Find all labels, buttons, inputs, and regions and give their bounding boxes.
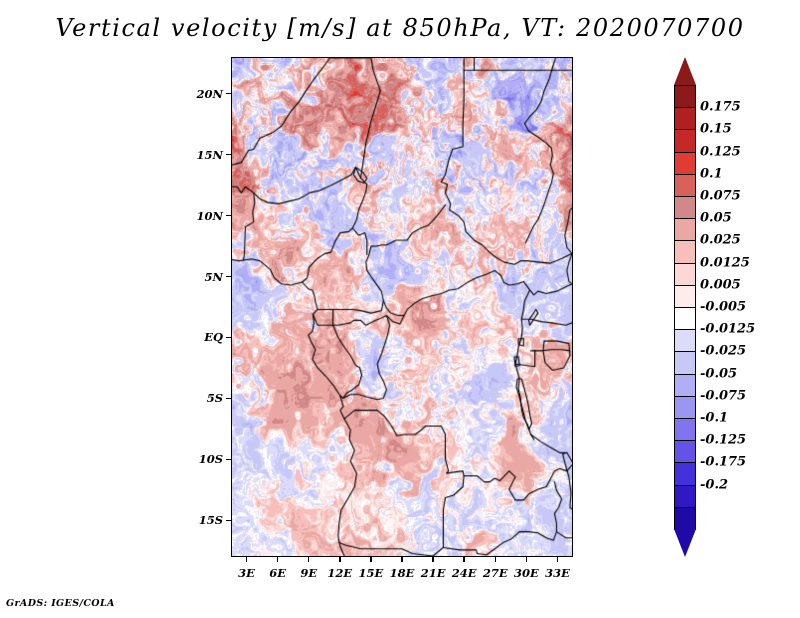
- colorbar-segment: [674, 129, 696, 153]
- longitude-tick-mark: [495, 557, 496, 562]
- longitude-tick-label: 27E: [483, 566, 508, 580]
- longitude-tick-label: 21E: [421, 566, 446, 580]
- longitude-tick-label: 30E: [514, 566, 539, 580]
- colorbar-tick-label: 0.075: [700, 189, 741, 204]
- colorbar-segment: [674, 196, 696, 220]
- latitude-tick-mark: [226, 337, 231, 338]
- page-title: Vertical velocity [m/s] at 850hPa, VT: 2…: [0, 14, 800, 42]
- colorbar-segment: [674, 462, 696, 486]
- colorbar-segment: [674, 396, 696, 420]
- longitude-tick-label: 3E: [238, 566, 255, 580]
- colorbar-tick-label: -0.005: [700, 300, 746, 315]
- longitude-tick-label: 12E: [327, 566, 352, 580]
- colorbar-tick-label: 0.0125: [700, 255, 750, 270]
- colorbar-bottom-arrow: [674, 529, 696, 557]
- longitude-tick-mark: [557, 557, 558, 562]
- colorbar-segment: [674, 374, 696, 398]
- colorbar-segment: [674, 152, 696, 176]
- longitude-tick-label: 18E: [390, 566, 415, 580]
- longitude-tick-mark: [277, 557, 278, 562]
- longitude-tick-mark: [308, 557, 309, 562]
- latitude-tick-mark: [226, 93, 231, 94]
- colorbar-tick-label: -0.2: [700, 477, 728, 492]
- colorbar-tick-label: 0.1: [700, 166, 723, 181]
- longitude-tick-mark: [370, 557, 371, 562]
- colorbar: [674, 57, 696, 557]
- latitude-tick-mark: [226, 154, 231, 155]
- colorbar-segment: [674, 107, 696, 131]
- latitude-tick-label: 15S: [185, 513, 223, 527]
- colorbar-tick-label: 0.125: [700, 144, 741, 159]
- latitude-tick-label: 5N: [185, 270, 223, 284]
- colorbar-tick-label: 0.05: [700, 211, 732, 226]
- longitude-tick-mark: [526, 557, 527, 562]
- colorbar-tick-label: 0.15: [700, 122, 732, 137]
- colorbar-tick-label: -0.075: [700, 388, 746, 403]
- colorbar-segment: [674, 440, 696, 464]
- colorbar-segment: [674, 507, 696, 531]
- colorbar-segment: [674, 285, 696, 309]
- longitude-tick-label: 24E: [452, 566, 477, 580]
- colorbar-segment: [674, 218, 696, 242]
- colorbar-segment: [674, 351, 696, 375]
- longitude-tick-mark: [401, 557, 402, 562]
- colorbar-tick-label: 0.025: [700, 233, 741, 248]
- grads-attribution: GrADS: IGES/COLA: [6, 598, 115, 609]
- longitude-tick-mark: [246, 557, 247, 562]
- colorbar-tick-label: -0.175: [700, 455, 746, 470]
- longitude-tick-mark: [432, 557, 433, 562]
- latitude-tick-label: 15N: [185, 148, 223, 162]
- longitude-tick-label: 6E: [269, 566, 286, 580]
- country-borders-overlay: [232, 58, 572, 556]
- colorbar-segment: [674, 329, 696, 353]
- latitude-tick-mark: [226, 398, 231, 399]
- longitude-tick-mark: [463, 557, 464, 562]
- latitude-tick-label: 10N: [185, 209, 223, 223]
- colorbar-segment: [674, 485, 696, 509]
- colorbar-segment: [674, 85, 696, 109]
- colorbar-tick-label: -0.025: [700, 344, 746, 359]
- colorbar-segment: [674, 240, 696, 264]
- longitude-tick-label: 9E: [300, 566, 317, 580]
- colorbar-tick-label: -0.125: [700, 433, 746, 448]
- latitude-tick-label: 10S: [185, 452, 223, 466]
- latitude-tick-label: 20N: [185, 87, 223, 101]
- colorbar-tick-label: -0.05: [700, 366, 737, 381]
- map-plot-area: [231, 57, 573, 557]
- colorbar-segment: [674, 263, 696, 287]
- latitude-tick-mark: [226, 215, 231, 216]
- latitude-tick-label: EQ: [185, 330, 223, 344]
- colorbar-segment: [674, 307, 696, 331]
- colorbar-tick-label: 0.175: [700, 100, 741, 115]
- latitude-tick-label: 5S: [185, 391, 223, 405]
- latitude-tick-mark: [226, 459, 231, 460]
- colorbar-segment: [674, 418, 696, 442]
- longitude-tick-mark: [339, 557, 340, 562]
- colorbar-tick-label: 0.005: [700, 277, 741, 292]
- colorbar-tick-label: -0.0125: [700, 322, 755, 337]
- colorbar-top-arrow: [674, 57, 696, 85]
- colorbar-tick-label: -0.1: [700, 411, 728, 426]
- latitude-tick-mark: [226, 276, 231, 277]
- longitude-tick-label: 33E: [545, 566, 570, 580]
- latitude-tick-mark: [226, 520, 231, 521]
- colorbar-segment: [674, 174, 696, 198]
- longitude-tick-label: 15E: [359, 566, 384, 580]
